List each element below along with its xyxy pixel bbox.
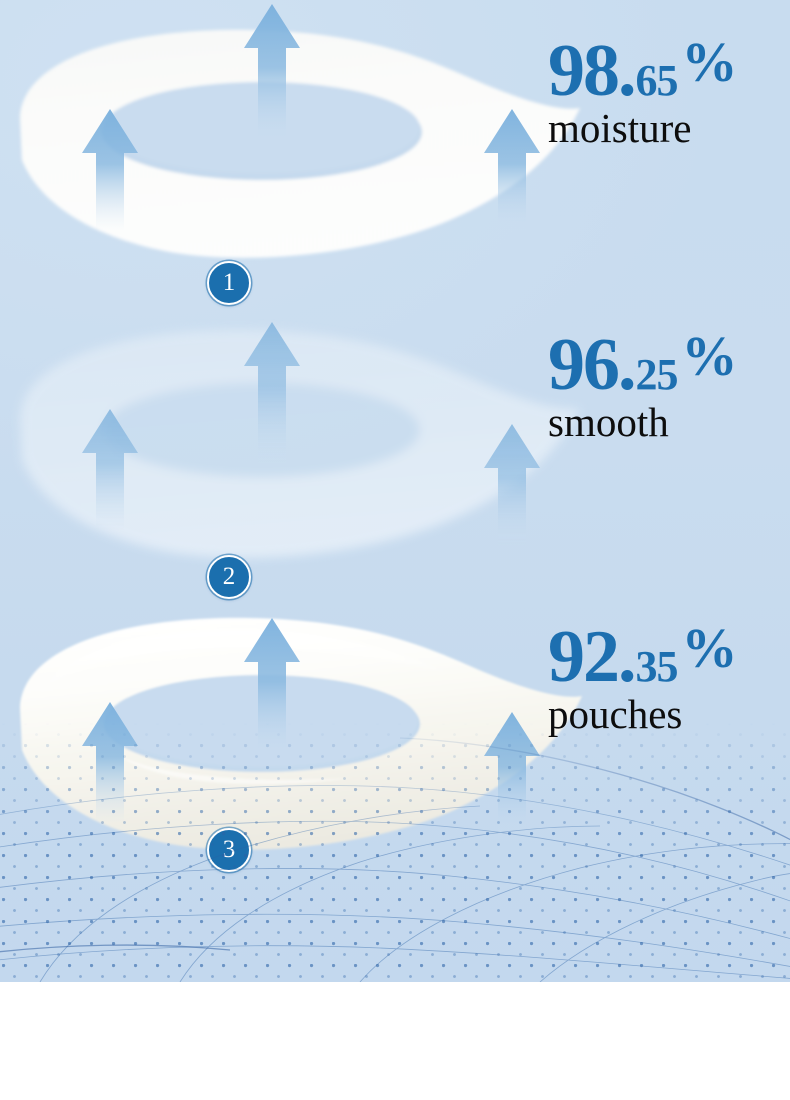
stat-2-dot: . bbox=[618, 324, 636, 406]
stat-2: 96.25% smooth bbox=[548, 330, 737, 443]
step-badge-1: 1 bbox=[207, 261, 251, 305]
stat-3-decimals: 35 bbox=[636, 642, 678, 691]
product-feature-poster: 1 98.65% moisture bbox=[0, 0, 790, 1100]
stat-2-decimals: 25 bbox=[636, 350, 678, 399]
step-badge-label-1: 1 bbox=[223, 270, 236, 295]
stat-3-number: 92.35% bbox=[548, 622, 737, 692]
step-badge-label-2: 2 bbox=[223, 564, 236, 589]
stat-3-dot: . bbox=[618, 616, 636, 698]
stat-1-dot: . bbox=[618, 30, 636, 112]
stat-1-percent: % bbox=[682, 32, 737, 94]
stat-3: 92.35% pouches bbox=[548, 622, 737, 735]
stat-2-number: 96.25% bbox=[548, 330, 737, 400]
network-mesh-dots bbox=[0, 722, 790, 982]
stat-3-percent: % bbox=[682, 618, 737, 680]
blue-scene-panel: 1 98.65% moisture bbox=[0, 0, 790, 982]
stat-2-label: smooth bbox=[548, 402, 737, 443]
stat-2-percent: % bbox=[682, 326, 737, 388]
stat-1: 98.65% moisture bbox=[548, 36, 737, 149]
feature-block-1: 1 98.65% moisture bbox=[0, 0, 790, 320]
stat-1-whole: 98 bbox=[548, 30, 618, 112]
feature-block-2: 2 96.25% smooth bbox=[0, 300, 790, 610]
stat-1-number: 98.65% bbox=[548, 36, 737, 106]
stat-2-whole: 96 bbox=[548, 324, 618, 406]
stat-3-whole: 92 bbox=[548, 616, 618, 698]
stat-1-label: moisture bbox=[548, 108, 737, 149]
stat-1-decimals: 65 bbox=[636, 56, 678, 105]
